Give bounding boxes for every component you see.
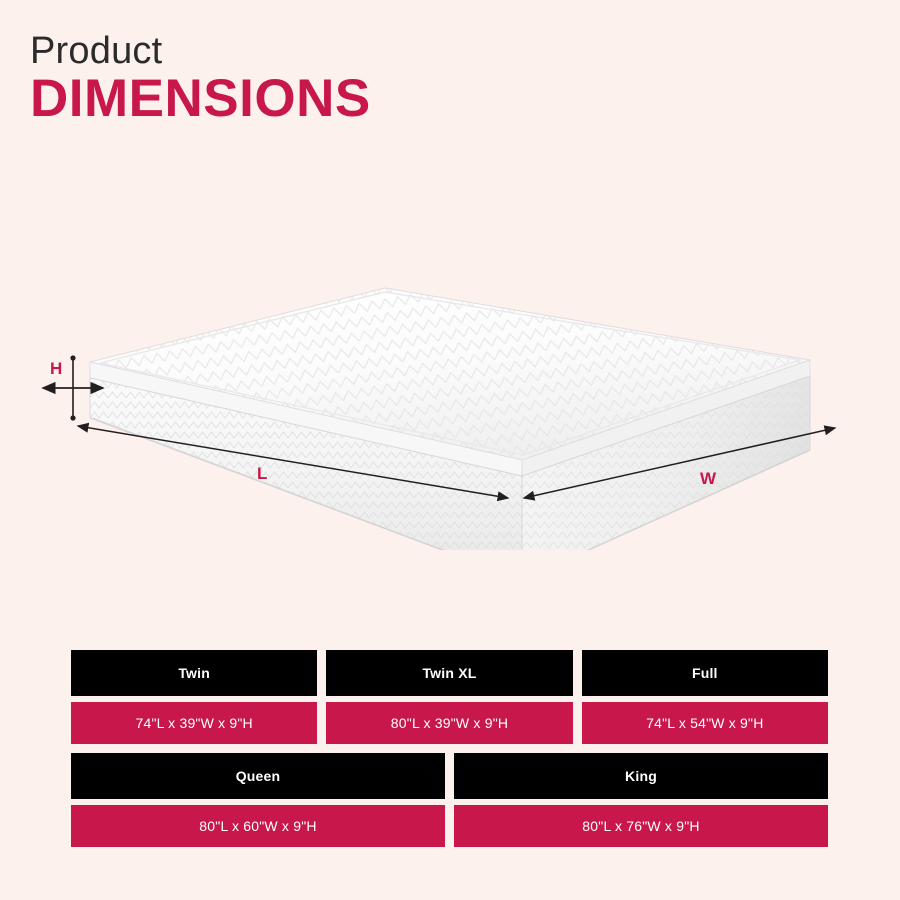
product-dimensions-infographic: Product DIMENSIONS xyxy=(0,0,900,900)
size-cell-full: Full 74"L x 54"W x 9"H xyxy=(582,650,828,744)
size-dimensions-table: Twin 74"L x 39"W x 9"H Twin XL 80"L x 39… xyxy=(71,650,828,847)
width-label: W xyxy=(700,470,716,487)
size-dimensions-king: 80"L x 76"W x 9"H xyxy=(454,805,828,847)
size-cell-twin: Twin 74"L x 39"W x 9"H xyxy=(71,650,317,744)
title-line-dimensions: DIMENSIONS xyxy=(30,72,371,125)
size-cell-king: King 80"L x 76"W x 9"H xyxy=(454,753,828,847)
size-cell-queen: Queen 80"L x 60"W x 9"H xyxy=(71,753,445,847)
size-name-twin-xl: Twin XL xyxy=(326,650,572,696)
table-row: Queen 80"L x 60"W x 9"H King 80"L x 76"W… xyxy=(71,753,828,847)
size-dimensions-twin: 74"L x 39"W x 9"H xyxy=(71,702,317,744)
size-dimensions-full: 74"L x 54"W x 9"H xyxy=(582,702,828,744)
mattress-diagram-svg xyxy=(0,250,900,550)
size-name-queen: Queen xyxy=(71,753,445,799)
size-name-full: Full xyxy=(582,650,828,696)
size-cell-twin-xl: Twin XL 80"L x 39"W x 9"H xyxy=(326,650,572,744)
mattress-illustration xyxy=(0,250,900,550)
table-row: Twin 74"L x 39"W x 9"H Twin XL 80"L x 39… xyxy=(71,650,828,744)
size-name-king: King xyxy=(454,753,828,799)
size-dimensions-queen: 80"L x 60"W x 9"H xyxy=(71,805,445,847)
height-label: H xyxy=(50,360,62,377)
size-dimensions-twin-xl: 80"L x 39"W x 9"H xyxy=(326,702,572,744)
page-title: Product DIMENSIONS xyxy=(30,32,371,125)
title-line-product: Product xyxy=(30,32,371,70)
length-label: L xyxy=(257,465,267,482)
size-name-twin: Twin xyxy=(71,650,317,696)
